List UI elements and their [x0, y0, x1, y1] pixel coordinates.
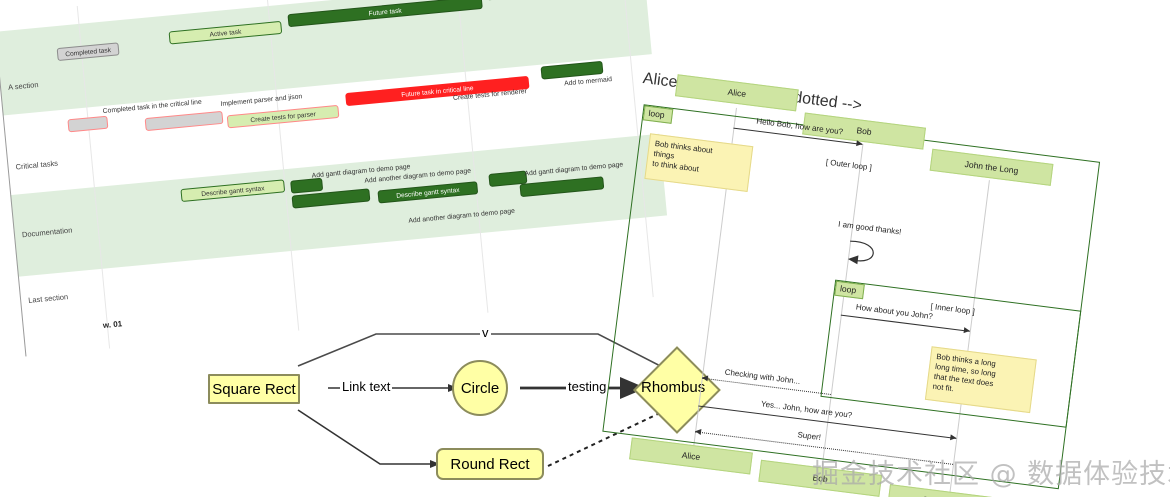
gantt-section-band-documentation — [10, 134, 667, 277]
gantt-bar[interactable] — [145, 111, 224, 131]
message-arrow-super — [695, 428, 702, 435]
gantt-section-label: Last section — [28, 292, 69, 305]
flow-node-round-rect[interactable]: Round Rect — [436, 448, 544, 480]
message-arrow-checking-with-john — [702, 375, 709, 382]
gantt-bar[interactable] — [67, 116, 108, 133]
actor-box-alice-top[interactable]: Alice — [675, 74, 799, 111]
actor-label: Bob — [856, 125, 872, 137]
gantt-bar[interactable]: Create tests for parser — [227, 105, 340, 128]
flow-edge-label-testing: testing — [566, 379, 608, 394]
self-message-loop-bob — [845, 237, 888, 272]
flow-node-label: Square Rect — [212, 381, 295, 398]
flow-node-label: Circle — [461, 380, 499, 397]
flow-edge-label-v: v — [480, 325, 491, 340]
actor-label: Alice — [727, 87, 747, 99]
actor-label: Alice — [681, 450, 701, 462]
watermark: 掘金技术社区 @ 数据体验技术 — [812, 452, 1170, 491]
gantt-section-label: Critical tasks — [15, 159, 58, 172]
flow-node-label: Round Rect — [450, 456, 529, 473]
gantt-bar-label: Create tests for parser — [228, 107, 339, 128]
flow-node-square-rect[interactable]: Square Rect — [208, 374, 300, 404]
actor-label: John the Long — [964, 159, 1019, 176]
message-arrow-hello-bob — [856, 140, 863, 147]
message-arrow-yes-john-how-are-you — [950, 434, 957, 441]
flow-edge-label-link-text: Link text — [340, 379, 392, 394]
diagram-canvas: Adding GANTT diagram functionality to me… — [0, 0, 1170, 497]
gantt-bar-label: Add to mermaid — [564, 76, 612, 87]
sequence-diagram: loop [ Outer loop ] loop [ Inner loop ] … — [591, 70, 1170, 497]
gantt-week-label: w. 01 — [102, 319, 122, 330]
gantt-bar-label: Implement parser and jison — [220, 93, 302, 108]
flow-node-circle[interactable]: Circle — [452, 360, 508, 416]
message-arrow-how-about-john — [964, 327, 971, 334]
